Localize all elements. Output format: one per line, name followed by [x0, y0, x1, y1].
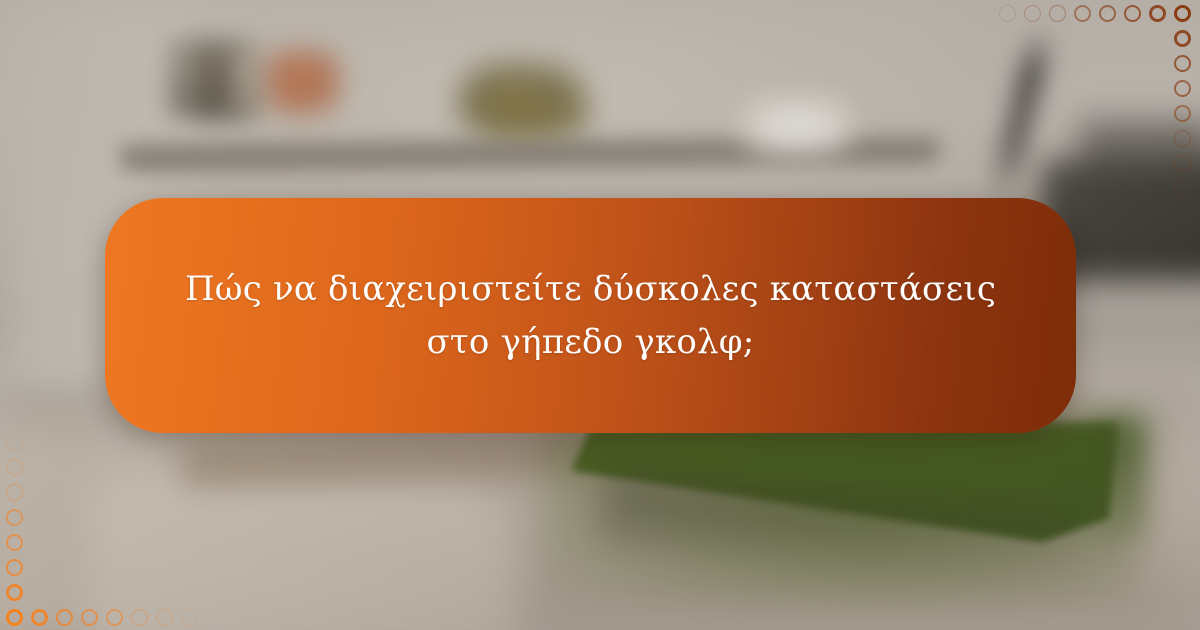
dot-grid-top-right	[990, 0, 1200, 210]
dot-horizontal-3	[1099, 5, 1116, 22]
dot-horizontal-5	[131, 609, 148, 626]
dot-horizontal-7	[999, 5, 1016, 22]
dot-grid-bottom-left	[0, 420, 210, 630]
dot-vertical-5	[1174, 130, 1191, 147]
dot-horizontal-2	[56, 609, 73, 626]
dot-vertical-2	[1174, 55, 1191, 72]
dot-horizontal-2	[1124, 5, 1141, 22]
dot-horizontal-4	[1074, 5, 1091, 22]
dot-vertical-6	[6, 459, 23, 476]
dot-vertical-2	[6, 559, 23, 576]
dot-horizontal-6	[1024, 5, 1041, 22]
dot-horizontal-4	[106, 609, 123, 626]
dot-vertical-3	[6, 534, 23, 551]
dot-vertical-7	[6, 434, 23, 451]
dot-vertical-7	[1174, 180, 1191, 197]
dot-horizontal-1	[1149, 5, 1166, 22]
dot-horizontal-1	[31, 609, 48, 626]
dot-vertical-3	[1174, 80, 1191, 97]
title-card: Πώς να διαχειριστείτε δύσκολες καταστάσε…	[105, 198, 1076, 433]
dot-vertical-4	[6, 509, 23, 526]
dot-corner	[6, 609, 23, 626]
dot-vertical-1	[1174, 30, 1191, 47]
dot-corner	[1174, 5, 1191, 22]
dot-horizontal-5	[1049, 5, 1066, 22]
page-title: Πώς να διαχειριστείτε δύσκολες καταστάσε…	[185, 263, 996, 367]
dot-vertical-4	[1174, 105, 1191, 122]
dot-vertical-1	[6, 584, 23, 601]
dot-vertical-6	[1174, 155, 1191, 172]
dot-horizontal-3	[81, 609, 98, 626]
dot-vertical-5	[6, 484, 23, 501]
dot-horizontal-6	[156, 609, 173, 626]
dot-horizontal-7	[181, 609, 198, 626]
